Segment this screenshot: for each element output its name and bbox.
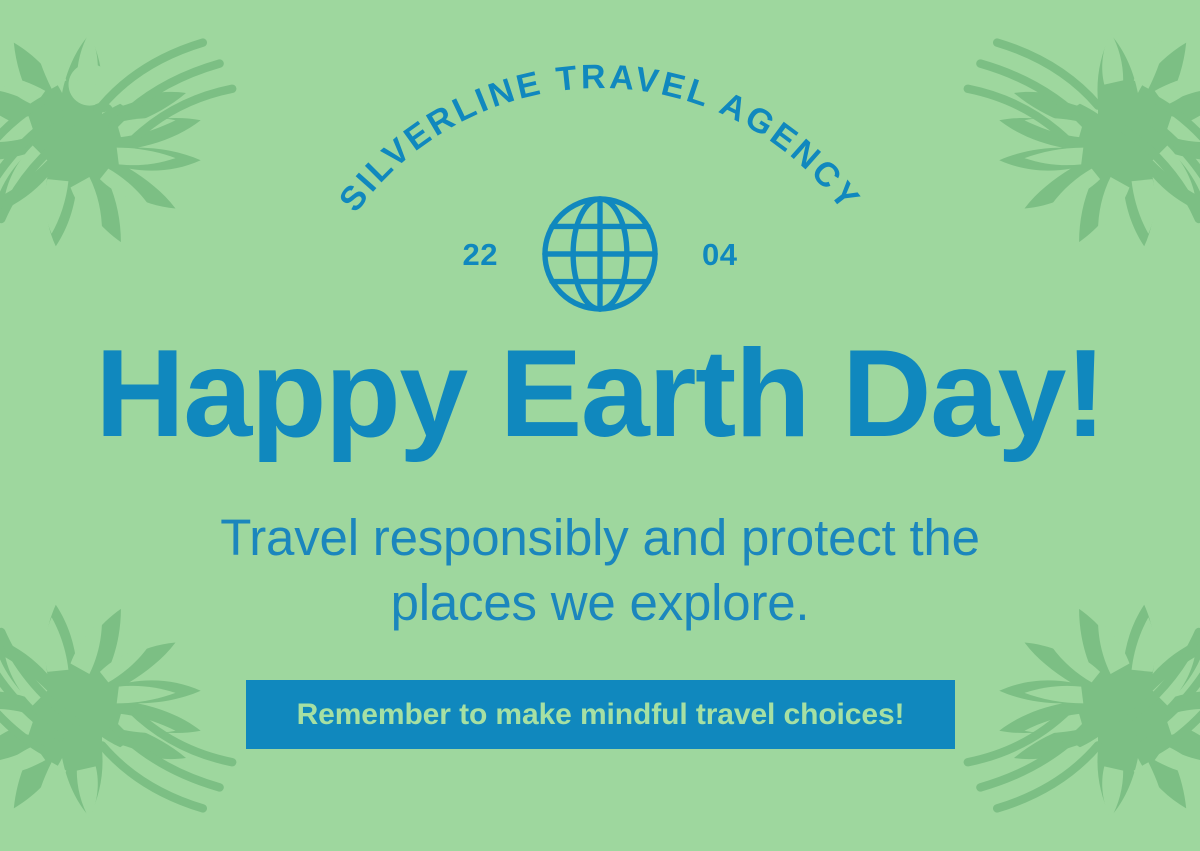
corner-pattern-top-left bbox=[0, 0, 312, 324]
subtitle-line-2: places we explore. bbox=[170, 570, 1030, 635]
globe-icon bbox=[536, 190, 664, 318]
emblem-date-row: 22 04 bbox=[320, 184, 880, 324]
earth-day-poster: SILVERLINE TRAVEL AGENCY 22 bbox=[0, 0, 1200, 851]
emblem-day: 22 bbox=[463, 239, 498, 270]
emblem-month: 04 bbox=[702, 239, 737, 270]
page-title: Happy Earth Day! bbox=[0, 332, 1200, 456]
corner-pattern-top-right bbox=[888, 0, 1200, 324]
subtitle: Travel responsibly and protect the place… bbox=[170, 505, 1030, 636]
brand-emblem: SILVERLINE TRAVEL AGENCY 22 bbox=[320, 96, 880, 326]
cta-banner-label: Remember to make mindful travel choices! bbox=[297, 700, 905, 730]
subtitle-line-1: Travel responsibly and protect the bbox=[170, 505, 1030, 570]
cta-banner[interactable]: Remember to make mindful travel choices! bbox=[246, 680, 955, 749]
